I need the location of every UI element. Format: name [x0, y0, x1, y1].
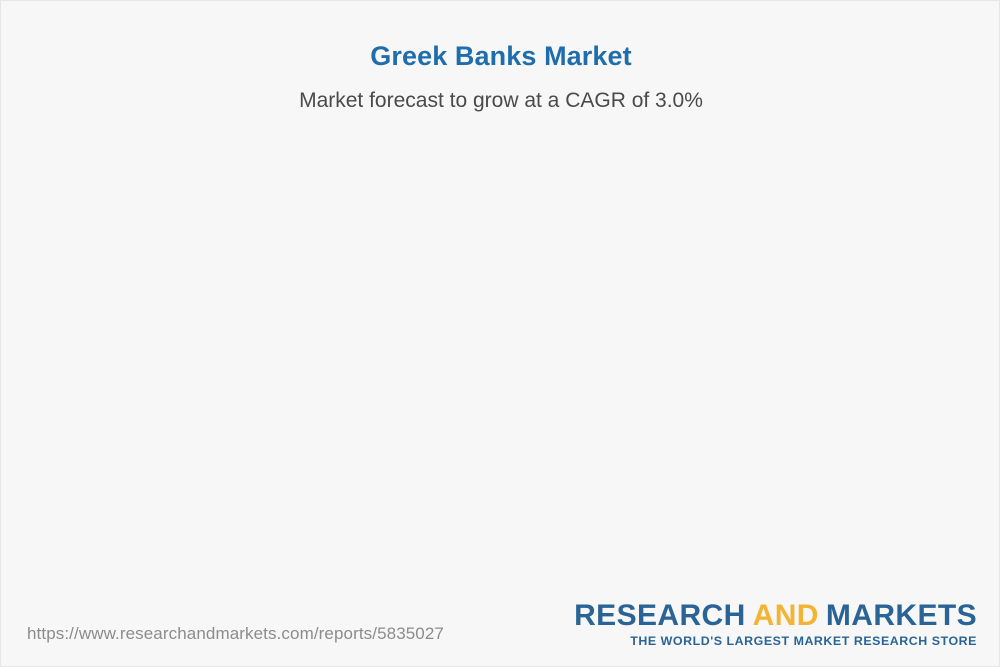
logo-wordmark: RESEARCHANDMARKETS: [574, 600, 977, 632]
logo-word-and: AND: [746, 599, 826, 632]
infographic-root: Greek Banks Market Market forecast to gr…: [0, 0, 1000, 667]
report-url[interactable]: https://www.researchandmarkets.com/repor…: [27, 624, 444, 644]
brand-logo[interactable]: RESEARCHANDMARKETS THE WORLD'S LARGEST M…: [574, 600, 977, 649]
chart-plot-area: USD 348.23 Billion 2022 USD 402.74 Billi…: [1, 1, 1000, 601]
logo-word-markets: MARKETS: [826, 599, 977, 632]
logo-tagline: THE WORLD'S LARGEST MARKET RESEARCH STOR…: [574, 634, 977, 648]
logo-word-research: RESEARCH: [574, 599, 746, 632]
